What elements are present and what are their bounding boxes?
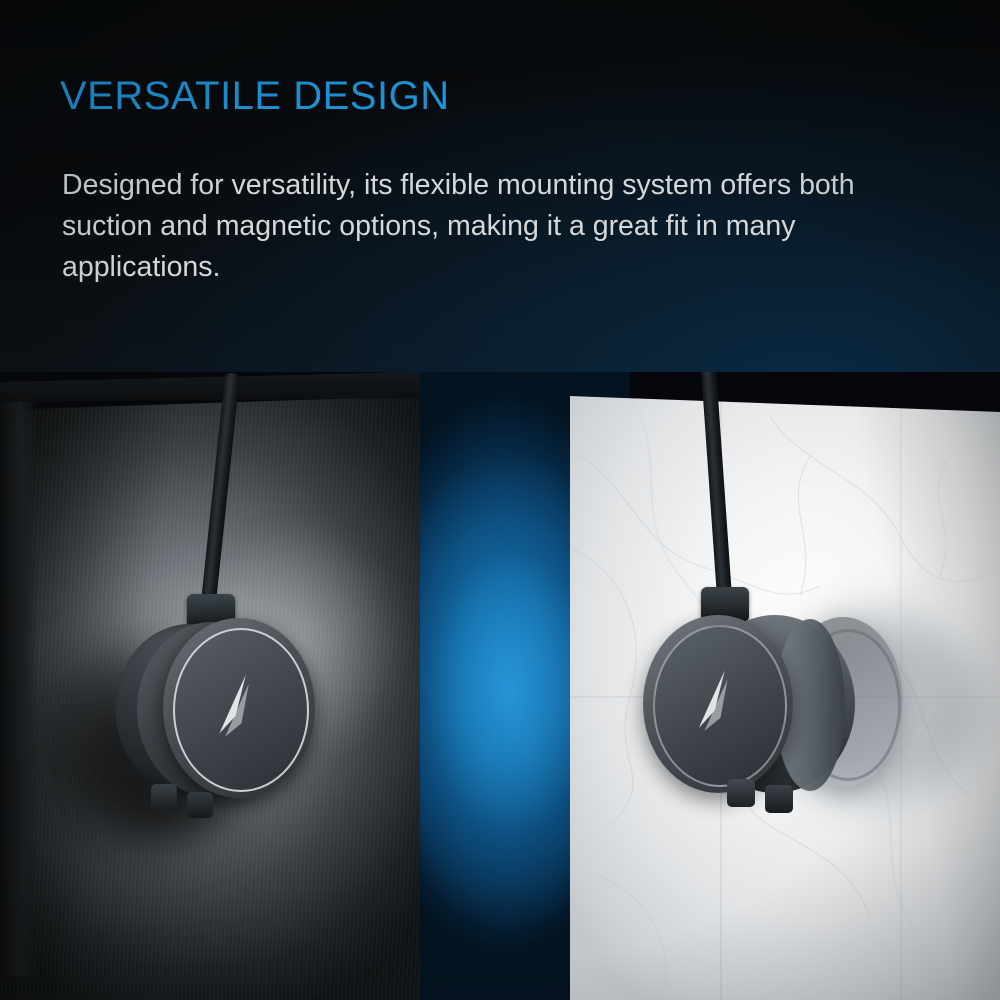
left-device-foot-1: [151, 784, 177, 810]
device-right-suction: [635, 557, 925, 857]
product-feature-image: VERSATILE DESIGN Designed for versatilit…: [0, 0, 1000, 1000]
page-subtitle: Designed for versatility, its flexible m…: [62, 165, 952, 288]
product-photo: [0, 372, 1000, 1000]
left-device-foot-2: [187, 792, 213, 818]
wall-left-edge-shadow: [0, 386, 38, 976]
device-left-magnetic: [95, 562, 355, 862]
brand-logo-icon: [203, 657, 277, 757]
wall-top-trim: [0, 372, 420, 402]
page-title: VERSATILE DESIGN: [60, 74, 450, 119]
brand-logo-icon-right: [683, 653, 755, 751]
right-device-foot-2: [765, 785, 793, 813]
right-device-foot-1: [727, 779, 755, 807]
